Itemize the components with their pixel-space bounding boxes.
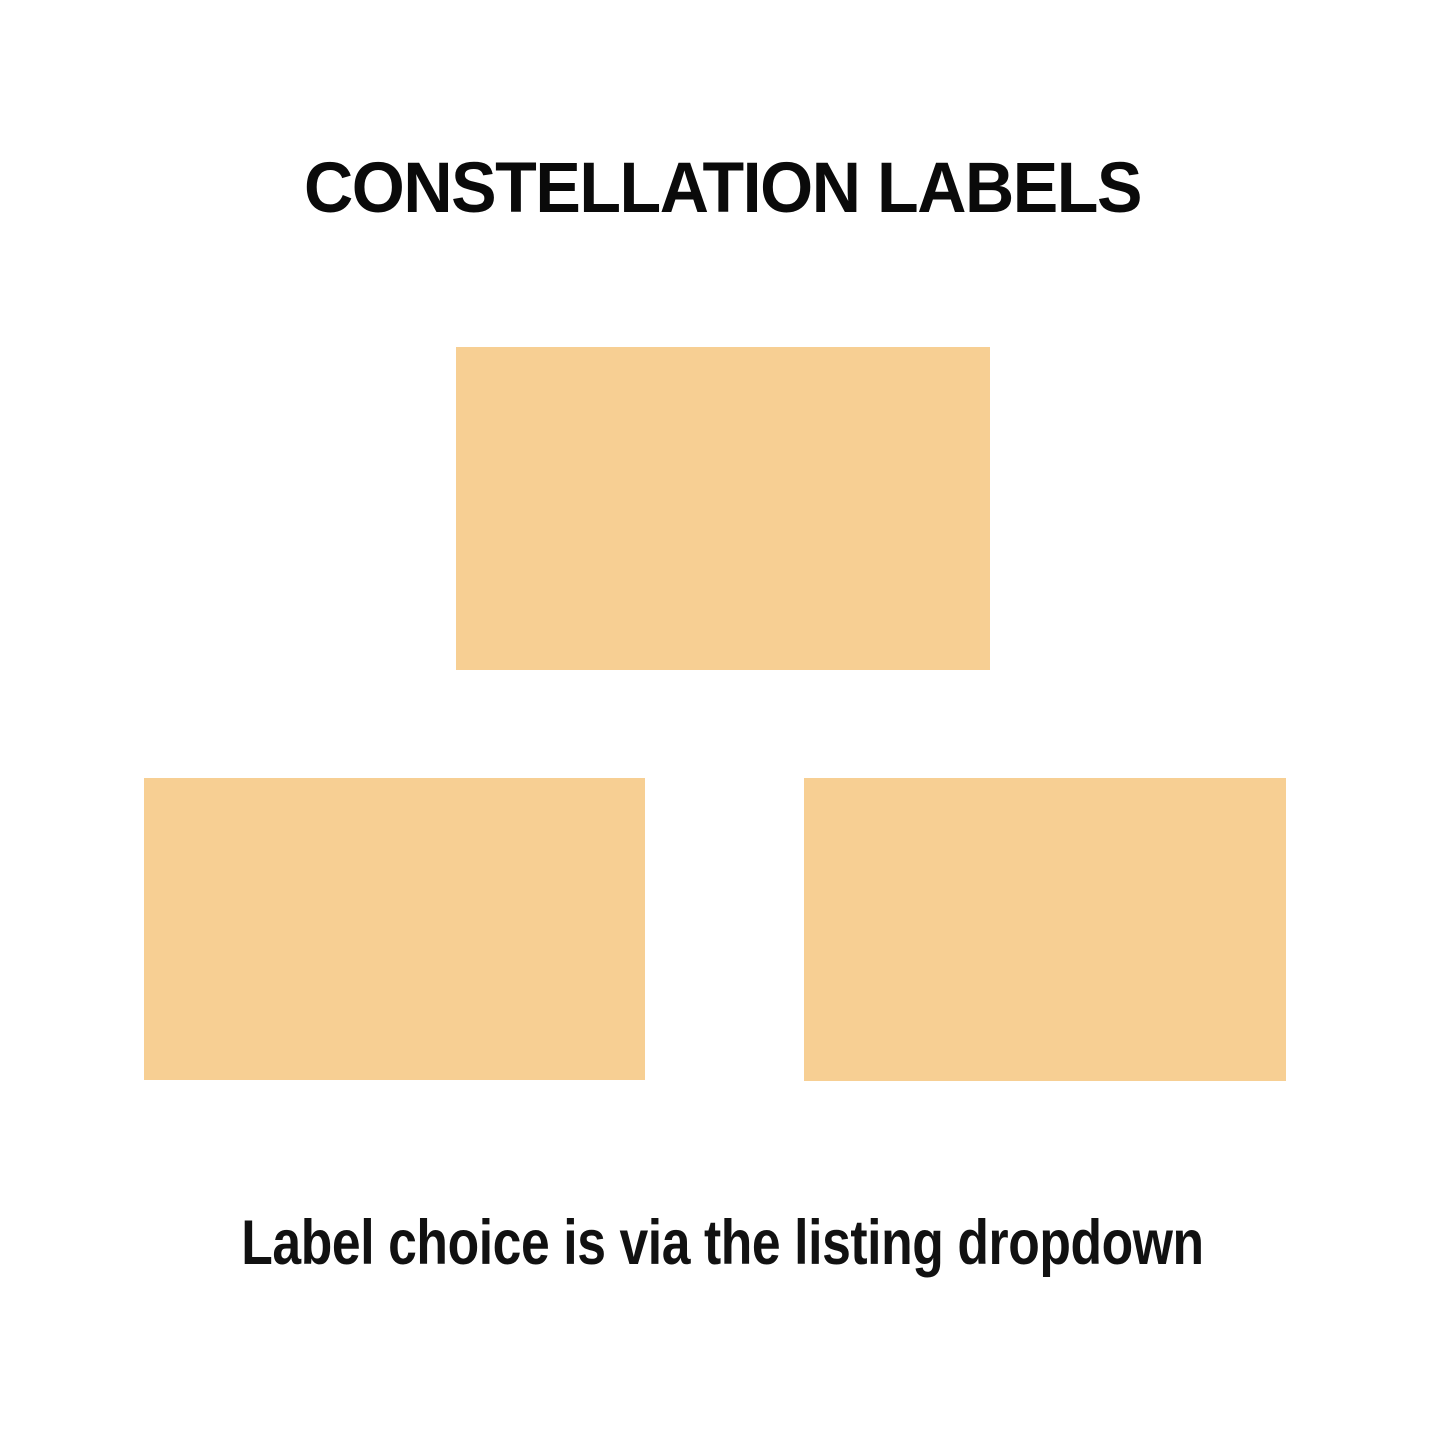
label-card-taurus[interactable]: ROCCO & ARLO — [456, 347, 990, 670]
label-card-virgo[interactable]: ROCCO & ARLO — [144, 778, 645, 1080]
label-card-capricorn[interactable]: ROCCO & ARLO — [804, 778, 1286, 1081]
footer-caption: Label choice is via the listing dropdown — [130, 1207, 1315, 1279]
page-title: CONSTELLATION LABELS — [29, 148, 1416, 229]
